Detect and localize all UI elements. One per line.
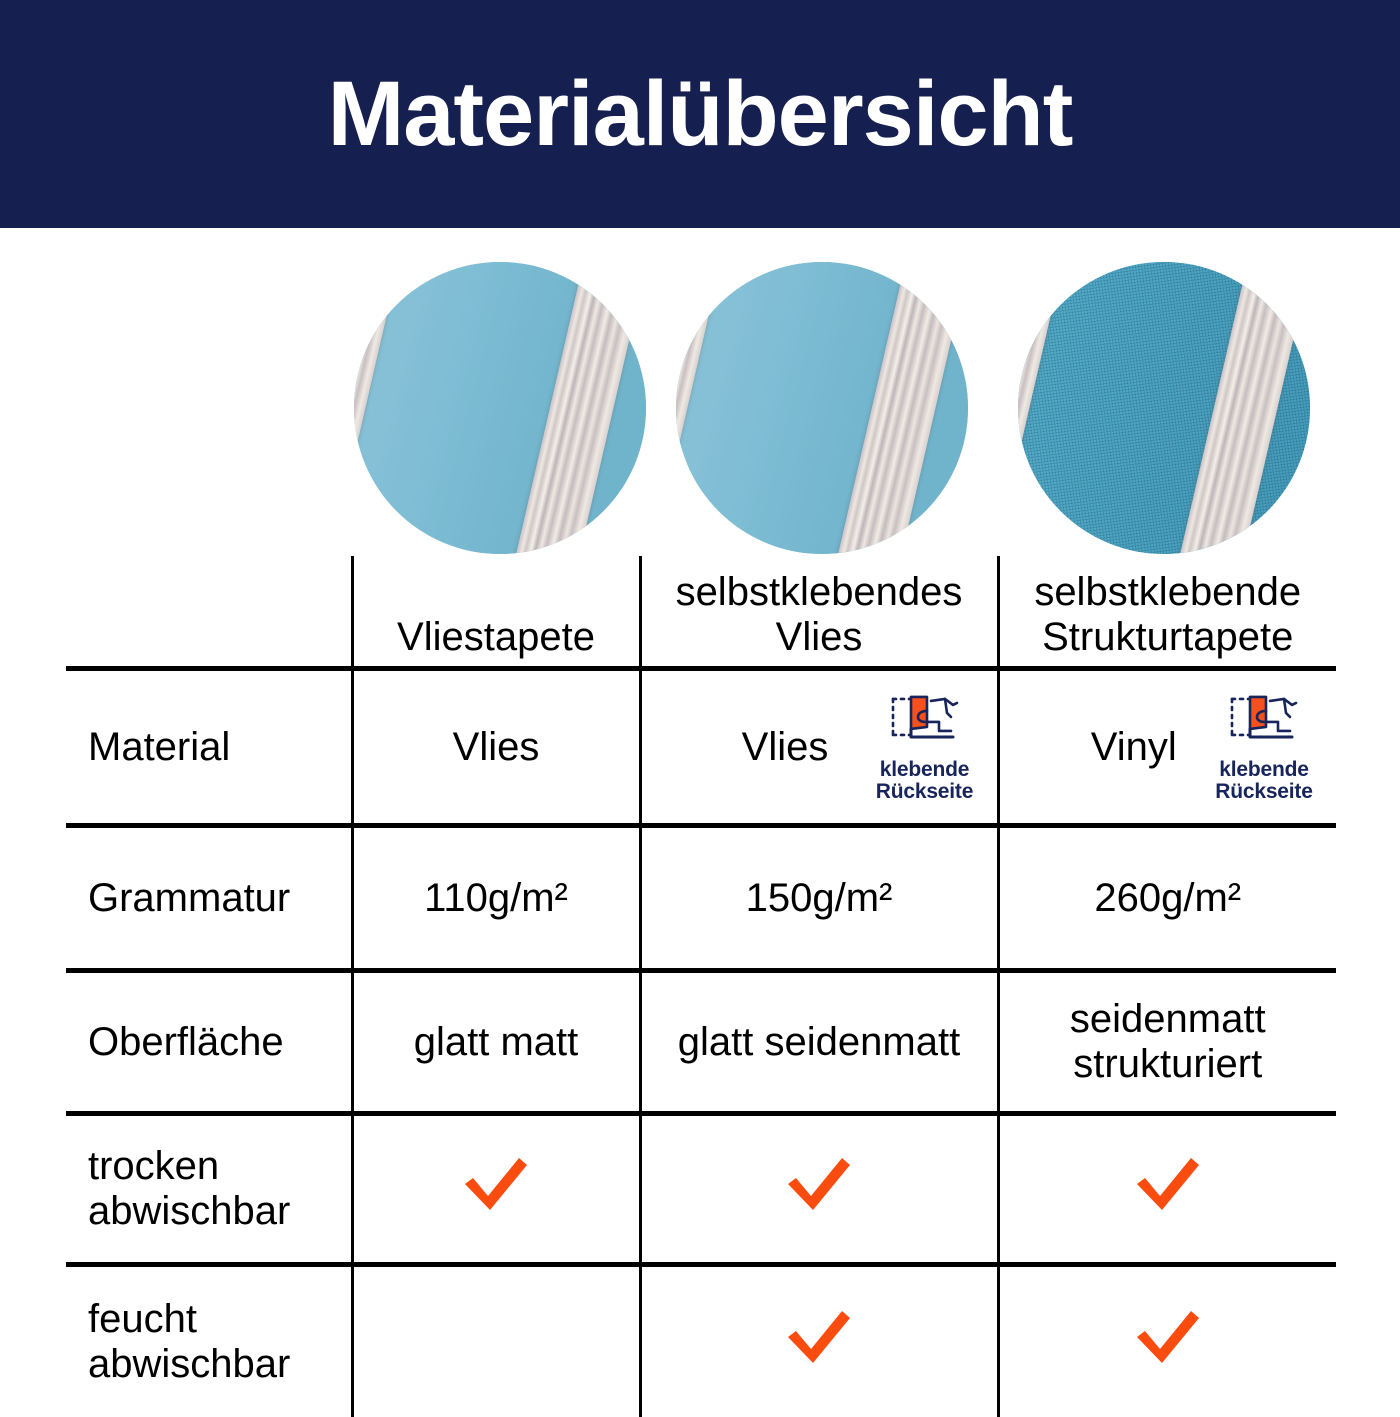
peel-adhesive-backing-icon [1200, 691, 1328, 755]
page-title: Materialübersicht [328, 68, 1073, 160]
cell-trocken-strukturtapete [998, 1114, 1336, 1265]
badge-line-1: klebende [1200, 759, 1328, 781]
badge-line-2: Rückseite [861, 781, 989, 803]
cell-oberflaeche-selbstklebendes-vlies: glatt seidenmatt [640, 971, 998, 1114]
cell-oberflaeche-strukturtapete: seidenmatt strukturiert [998, 971, 1336, 1114]
column-header-selbstklebende-strukturtapete: selbstklebende Strukturtapete [998, 556, 1336, 669]
cell-grammatur-vliestapete: 110g/m² [352, 826, 640, 971]
cell-oberflaeche-vliestapete: glatt matt [352, 971, 640, 1114]
check-icon [1131, 1307, 1205, 1367]
page-header: Materialübersicht [0, 0, 1400, 228]
check-icon [782, 1307, 856, 1367]
table-row: feucht abwischbar [66, 1265, 1336, 1417]
cell-feucht-selbstklebendes-vlies [640, 1265, 998, 1417]
column-header-blank [66, 556, 352, 669]
row-label-oberflaeche: Oberfläche [66, 971, 352, 1114]
cell-material-strukturtapete: Vinyl [998, 669, 1336, 826]
column-header-selbstklebendes-vlies: selbstklebendes Vlies [640, 556, 998, 669]
check-icon [782, 1154, 856, 1214]
cell-material-vliestapete: Vlies [352, 669, 640, 826]
table-row: Material Vlies Vlies [66, 669, 1336, 826]
table-header-row: Vliestapete selbstklebendes Vlies selbst… [66, 556, 1336, 669]
row-label-feucht-abwischbar: feucht abwischbar [66, 1265, 352, 1417]
cell-feucht-strukturtapete [998, 1265, 1336, 1417]
swatch-strukturtapete [1018, 262, 1310, 554]
cell-feucht-vliestapete [352, 1265, 640, 1417]
material-swatch-row [0, 262, 1400, 562]
check-icon [1131, 1154, 1205, 1214]
table-row: Oberfläche glatt matt glatt seidenmatt s… [66, 971, 1336, 1114]
row-label-grammatur: Grammatur [66, 826, 352, 971]
swatch-selbstklebendes-vlies [676, 262, 968, 554]
column-header-vliestapete: Vliestapete [352, 556, 640, 669]
table-row: Grammatur 110g/m² 150g/m² 260g/m² [66, 826, 1336, 971]
cell-grammatur-strukturtapete: 260g/m² [998, 826, 1336, 971]
swatch-vliestapete [354, 262, 646, 554]
cell-material-selbstklebendes-vlies: Vlies [640, 669, 998, 826]
row-label-trocken-abwischbar: trocken abwischbar [66, 1114, 352, 1265]
peel-adhesive-backing-icon [861, 691, 989, 755]
check-icon [459, 1154, 533, 1214]
cell-trocken-vliestapete [352, 1114, 640, 1265]
adhesive-backing-badge: klebende Rückseite [1200, 691, 1328, 803]
material-comparison-table: Vliestapete selbstklebendes Vlies selbst… [66, 556, 1336, 1417]
badge-line-1: klebende [861, 759, 989, 781]
table-row: trocken abwischbar [66, 1114, 1336, 1265]
cell-grammatur-selbstklebendes-vlies: 150g/m² [640, 826, 998, 971]
adhesive-backing-badge: klebende Rückseite [861, 691, 989, 803]
row-label-material: Material [66, 669, 352, 826]
badge-line-2: Rückseite [1200, 781, 1328, 803]
cell-trocken-selbstklebendes-vlies [640, 1114, 998, 1265]
